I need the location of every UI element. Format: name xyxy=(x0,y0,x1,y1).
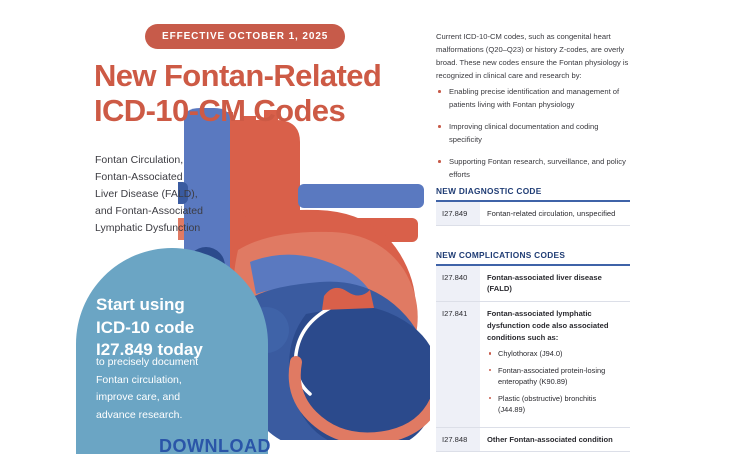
start-heading-line: Start using xyxy=(96,294,266,317)
start-heading-line: ICD-10 code xyxy=(96,317,266,340)
table-row: I27.848 Other Fontan-associated conditio… xyxy=(436,428,630,453)
headline-line-1: New Fontan-Related xyxy=(94,58,381,93)
list-item: Enabling precise identification and mana… xyxy=(436,85,632,111)
table-row: I27.849 Fontan-related circulation, unsp… xyxy=(436,202,630,227)
sub-bullet-list: Chylothorax (J94.0) Fontan-associated pr… xyxy=(487,348,625,415)
subtitle-line: and Fontan-Associated xyxy=(95,203,245,220)
table-title: NEW DIAGNOSTIC CODE xyxy=(436,186,630,200)
start-body-line: advance research. xyxy=(96,407,246,425)
download-link[interactable]: DOWNLOAD xyxy=(0,436,430,454)
right-column: Current ICD-10-CM codes, such as congeni… xyxy=(432,0,730,454)
new-diagnostic-code-table: NEW DIAGNOSTIC CODE I27.849 Fontan-relat… xyxy=(436,186,630,226)
code-cell: I27.841 xyxy=(436,302,480,427)
start-body-line: improve care, and xyxy=(96,389,246,407)
intro-bullet-list: Enabling precise identification and mana… xyxy=(436,85,632,190)
description-cell: Fontan-associated liver disease (FALD) xyxy=(480,266,630,302)
start-body-line: Fontan circulation, xyxy=(96,372,246,390)
start-body-line: to precisely document xyxy=(96,354,246,372)
subtitle: Fontan Circulation, Fontan-Associated Li… xyxy=(95,152,245,237)
start-using-heading: Start using ICD-10 code I27.849 today xyxy=(96,294,266,362)
list-item: Fontan-associated protein-losing enterop… xyxy=(487,365,625,388)
code-cell: I27.840 xyxy=(436,266,480,302)
description-cell: Fontan-related circulation, unspecified xyxy=(480,202,630,226)
intro-paragraph: Current ICD-10-CM codes, such as congeni… xyxy=(436,30,632,82)
list-item: Plastic (obstructive) bronchitis (J44.89… xyxy=(487,393,625,416)
left-column: EFFECTIVE OCTOBER 1, 2025 New Fontan-Rel… xyxy=(0,0,430,454)
effective-date-badge: EFFECTIVE OCTOBER 1, 2025 xyxy=(145,24,345,49)
start-using-body: to precisely document Fontan circulation… xyxy=(96,354,246,425)
description-cell: Other Fontan-associated condition xyxy=(480,428,630,452)
page-title: New Fontan-Related ICD-10-CM Codes xyxy=(94,58,424,129)
description-text: Fontan-associated lymphatic dysfunction … xyxy=(487,309,609,342)
new-complications-codes-table: NEW COMPLICATIONS CODES I27.840 Fontan-a… xyxy=(436,250,630,452)
list-item: Supporting Fontan research, surveillance… xyxy=(436,155,632,181)
subtitle-line: Fontan-Associated xyxy=(95,169,245,186)
list-item: Improving clinical documentation and cod… xyxy=(436,120,632,146)
subtitle-line: Fontan Circulation, xyxy=(95,152,245,169)
code-cell: I27.848 xyxy=(436,428,480,452)
list-item: Chylothorax (J94.0) xyxy=(487,348,625,359)
description-cell: Fontan-associated lymphatic dysfunction … xyxy=(480,302,630,427)
table-row: I27.841 Fontan-associated lymphatic dysf… xyxy=(436,302,630,428)
table-row: I27.840 Fontan-associated liver disease … xyxy=(436,266,630,303)
headline-line-2: ICD-10-CM Codes xyxy=(94,93,424,128)
code-cell: I27.849 xyxy=(436,202,480,226)
subtitle-line: Liver Disease (FALD), xyxy=(95,186,245,203)
table-title: NEW COMPLICATIONS CODES xyxy=(436,250,630,264)
subtitle-line: Lymphatic Dysfunction xyxy=(95,220,245,237)
